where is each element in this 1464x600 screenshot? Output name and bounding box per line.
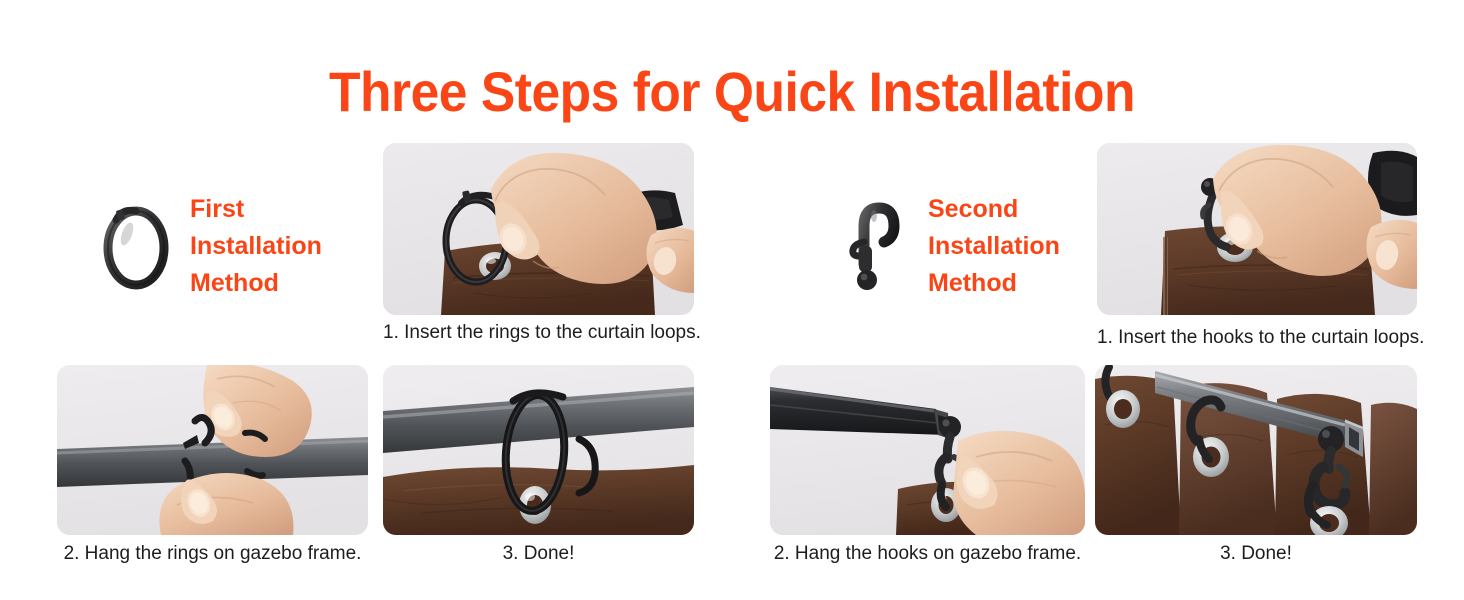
scene-hooks-hanging-on-rail-with-curtains <box>1095 365 1417 535</box>
infographic-root: Three Steps for Quick Installation First… <box>0 0 1464 600</box>
caption-hooks-done: 3. Done! <box>1095 541 1417 567</box>
photo-insert-rings <box>383 143 694 315</box>
scene-hands-opening-ring-on-pole <box>57 365 368 535</box>
curtain-ring-icon <box>96 186 176 306</box>
scene-ring-hanging-on-pole-with-curtain <box>383 365 694 535</box>
method-block-first: First Installation Method <box>96 186 322 306</box>
caption-insert-hooks: 1. Insert the hooks to the curtain loops… <box>1097 325 1417 351</box>
photo-hang-hooks <box>770 365 1085 535</box>
caption-hang-rings: 2. Hang the rings on gazebo frame. <box>57 541 368 567</box>
photo-rings-done <box>383 365 694 535</box>
scene-hand-inserting-ring-into-grommet <box>383 143 694 315</box>
caption-hang-hooks: 2. Hang the hooks on gazebo frame. <box>770 541 1085 567</box>
method-block-second: Second Installation Method <box>834 186 1060 306</box>
photo-hooks-done <box>1095 365 1417 535</box>
scene-hand-inserting-hook-into-grommet <box>1097 143 1417 315</box>
scene-hand-hanging-hook-on-rail <box>770 365 1085 535</box>
photo-insert-hooks <box>1097 143 1417 315</box>
method-second-label: Second Installation Method <box>928 191 1060 302</box>
curtain-hook-icon <box>834 186 914 306</box>
caption-insert-rings: 1. Insert the rings to the curtain loops… <box>383 320 694 346</box>
caption-rings-done: 3. Done! <box>383 541 694 567</box>
photo-hang-rings <box>57 365 368 535</box>
method-first-label: First Installation Method <box>190 191 322 302</box>
page-title: Three Steps for Quick Installation <box>59 62 1406 122</box>
